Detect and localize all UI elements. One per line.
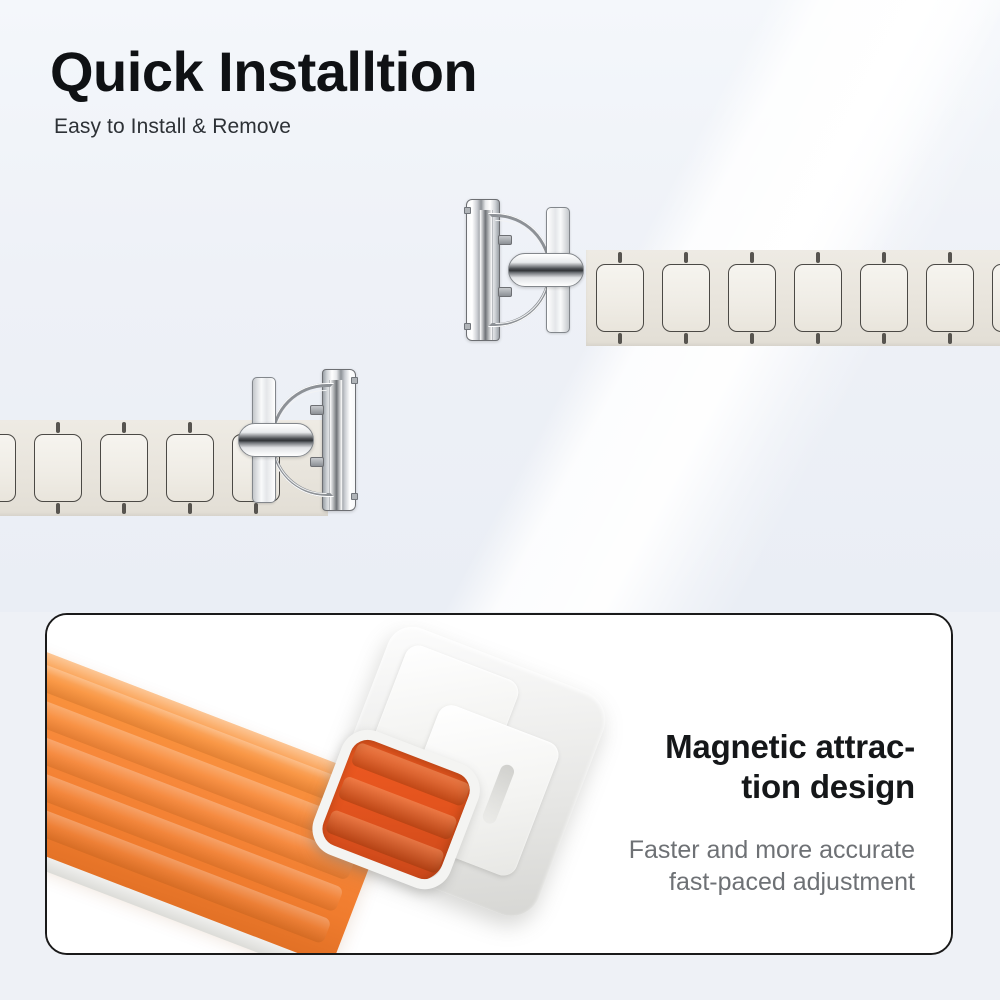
feature-subtitle-line-1: Faster and more accurate: [515, 834, 915, 867]
band-notch: [948, 252, 952, 263]
band-notch: [816, 252, 820, 263]
band-segment: [596, 264, 644, 332]
band-segment: [100, 434, 148, 502]
clasp-nub: [351, 493, 358, 500]
headline-block: Quick Installtion Easy to Install & Remo…: [50, 42, 477, 139]
band-notch: [684, 333, 688, 344]
clasp-nub: [464, 207, 471, 214]
band-notch: [750, 333, 754, 344]
band-notch: [618, 333, 622, 344]
band-notch: [948, 333, 952, 344]
product-photo: Magnetic attrac- tion design Faster and …: [47, 615, 951, 953]
product-marketing-image: Quick Installtion Easy to Install & Remo…: [0, 0, 1000, 1000]
feature-title-line-2: tion design: [515, 767, 915, 807]
feature-subtitle: Faster and more accurate fast-paced adju…: [515, 834, 915, 899]
clasp-horizontal-bar: [238, 423, 314, 457]
magnetic-clasp-hardware: [242, 365, 360, 515]
band-notch: [122, 503, 126, 514]
feature-title: Magnetic attrac- tion design: [515, 727, 915, 808]
clasp-horizontal-bar: [508, 253, 584, 287]
band-notch: [816, 333, 820, 344]
feature-text-block: Magnetic attrac- tion design Faster and …: [515, 727, 915, 899]
band-segment: [166, 434, 214, 502]
band-segment: [860, 264, 908, 332]
magnetic-clasp-hardware: [462, 195, 580, 345]
band-segment: [662, 264, 710, 332]
band-notch: [882, 333, 886, 344]
clasp-nub: [464, 323, 471, 330]
installation-diagram-section: Quick Installtion Easy to Install & Remo…: [0, 0, 1000, 612]
feature-subtitle-line-2: fast-paced adjustment: [515, 866, 915, 899]
band-segment: [992, 264, 1000, 332]
page-subtitle: Easy to Install & Remove: [54, 115, 477, 139]
band-notch: [618, 252, 622, 263]
feature-title-line-1: Magnetic attrac-: [515, 727, 915, 767]
feature-card: Magnetic attrac- tion design Faster and …: [45, 613, 953, 955]
band-notch: [56, 422, 60, 433]
page-title: Quick Installtion: [50, 42, 477, 101]
band-segment: [728, 264, 776, 332]
band-segment: [794, 264, 842, 332]
band-segment: [926, 264, 974, 332]
band-notch: [684, 252, 688, 263]
band-notch: [56, 503, 60, 514]
band-strip-top: [586, 250, 1000, 346]
band-notch: [122, 422, 126, 433]
band-notch: [750, 252, 754, 263]
band-segment: [0, 434, 16, 502]
band-notch: [188, 422, 192, 433]
band-notch: [188, 503, 192, 514]
band-segment: [34, 434, 82, 502]
clasp-nub: [351, 377, 358, 384]
band-notch: [882, 252, 886, 263]
